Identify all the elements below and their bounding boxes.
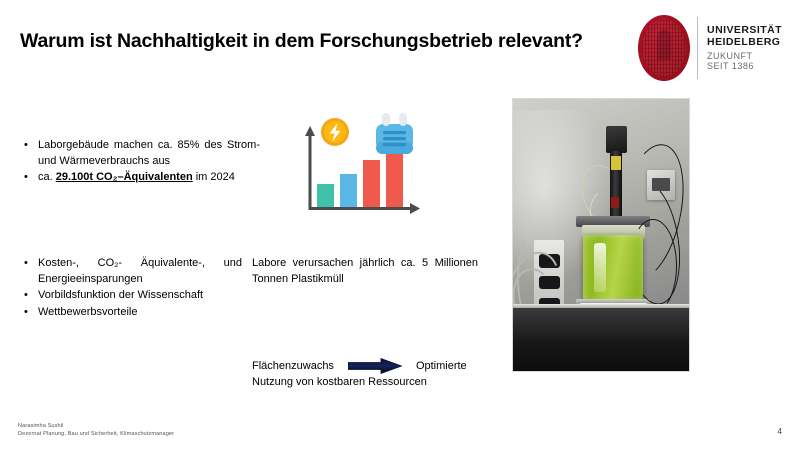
arrow-statement: Flächenzuwachs Optimierte Nutzung von ko… — [252, 358, 488, 390]
lightning-bolt-icon — [321, 118, 349, 146]
arrow-left-label: Flächenzuwachs — [252, 358, 334, 374]
bullet-marker: • — [22, 138, 38, 153]
footer: Narasimha Sushil Dezernat Planung, Bau u… — [18, 422, 174, 438]
bullet-list-top: • Laborgebäude machen ca. 85% des Strom-… — [22, 138, 260, 187]
energy-consumption-illustration — [292, 112, 432, 232]
logo-divider — [697, 17, 698, 79]
page-title: Warum ist Nachhaltigkeit in dem Forschun… — [20, 28, 640, 54]
photo-cable — [629, 219, 677, 313]
bullet-list-benefits: • Kosten-, CO₂- Äquivalente-, und Energi… — [22, 256, 242, 321]
bullet-marker: • — [22, 305, 38, 320]
list-item: • ca. 29.100t CO₂–Äquivalenten im 2024 — [22, 170, 260, 186]
logo-wordmark: UNIVERSITÄT HEIDELBERG ZUKUNFT SEIT 1386 — [707, 25, 782, 71]
arrow-right-label: Optimierte — [416, 358, 467, 374]
footer-author: Narasimha Sushil — [18, 422, 174, 430]
photo-bench — [513, 308, 689, 371]
emphasis-co2-value: 29.100t CO₂–Äquivalenten — [56, 171, 193, 183]
photo-stirrer-motor — [606, 126, 627, 153]
plastic-waste-statement: Labore verursachen jährlich ca. 5 Millio… — [252, 256, 478, 287]
bullet-marker: • — [22, 170, 38, 185]
bullet-marker: • — [22, 256, 38, 271]
bullet-text: Kosten-, CO₂- Äquivalente-, und Energiee… — [38, 256, 242, 287]
electric-plug-icon — [376, 113, 413, 154]
bullet-text: Vorbildsfunktion der Wissenschaft — [38, 288, 203, 304]
bullet-marker: • — [22, 288, 38, 303]
bullet-text: Laborgebäude machen ca. 85% des Strom- u… — [38, 138, 260, 169]
university-logo: UNIVERSITÄT HEIDELBERG ZUKUNFT SEIT 1386 — [638, 12, 782, 84]
right-block-arrow-icon — [348, 358, 402, 374]
bullet-text-segment: ca. — [38, 171, 56, 183]
footer-department: Dezernat Planung, Bau und Sicherheit, Kl… — [18, 430, 174, 438]
list-item: • Laborgebäude machen ca. 85% des Strom-… — [22, 138, 260, 169]
list-item: • Kosten-, CO₂- Äquivalente-, und Energi… — [22, 256, 242, 287]
list-item: • Wettbewerbsvorteile — [22, 305, 242, 321]
logo-line-seit-1386: SEIT 1386 — [707, 61, 782, 71]
logo-line-zukunft: ZUKUNFT — [707, 51, 782, 61]
arrow-statement-line-2: Nutzung von kostbaren Ressourcen — [252, 374, 488, 390]
logo-line-heidelberg: HEIDELBERG — [707, 37, 782, 49]
photo-warning-label — [611, 156, 622, 170]
chart-bar-1 — [317, 184, 334, 207]
arrow-statement-line-1: Flächenzuwachs Optimierte — [252, 358, 488, 374]
bullet-text: ca. 29.100t CO₂–Äquivalenten im 2024 — [38, 170, 235, 186]
laboratory-bioreactor-photo — [512, 98, 690, 372]
chart-bar-2 — [340, 174, 357, 207]
presentation-slide: Warum ist Nachhaltigkeit in dem Forschun… — [0, 0, 800, 450]
photo-vessel-highlight — [594, 243, 606, 292]
page-number: 4 — [778, 427, 782, 436]
chart-bar-3 — [363, 160, 380, 207]
bullet-text: Wettbewerbsvorteile — [38, 305, 137, 321]
list-item: • Vorbildsfunktion der Wissenschaft — [22, 288, 242, 304]
heidelberg-seal-icon — [638, 15, 690, 81]
bullet-text-segment: im 2024 — [193, 171, 235, 183]
bullet-text-segment: Laborgebäude machen ca. 85% des Strom- u… — [38, 139, 260, 167]
